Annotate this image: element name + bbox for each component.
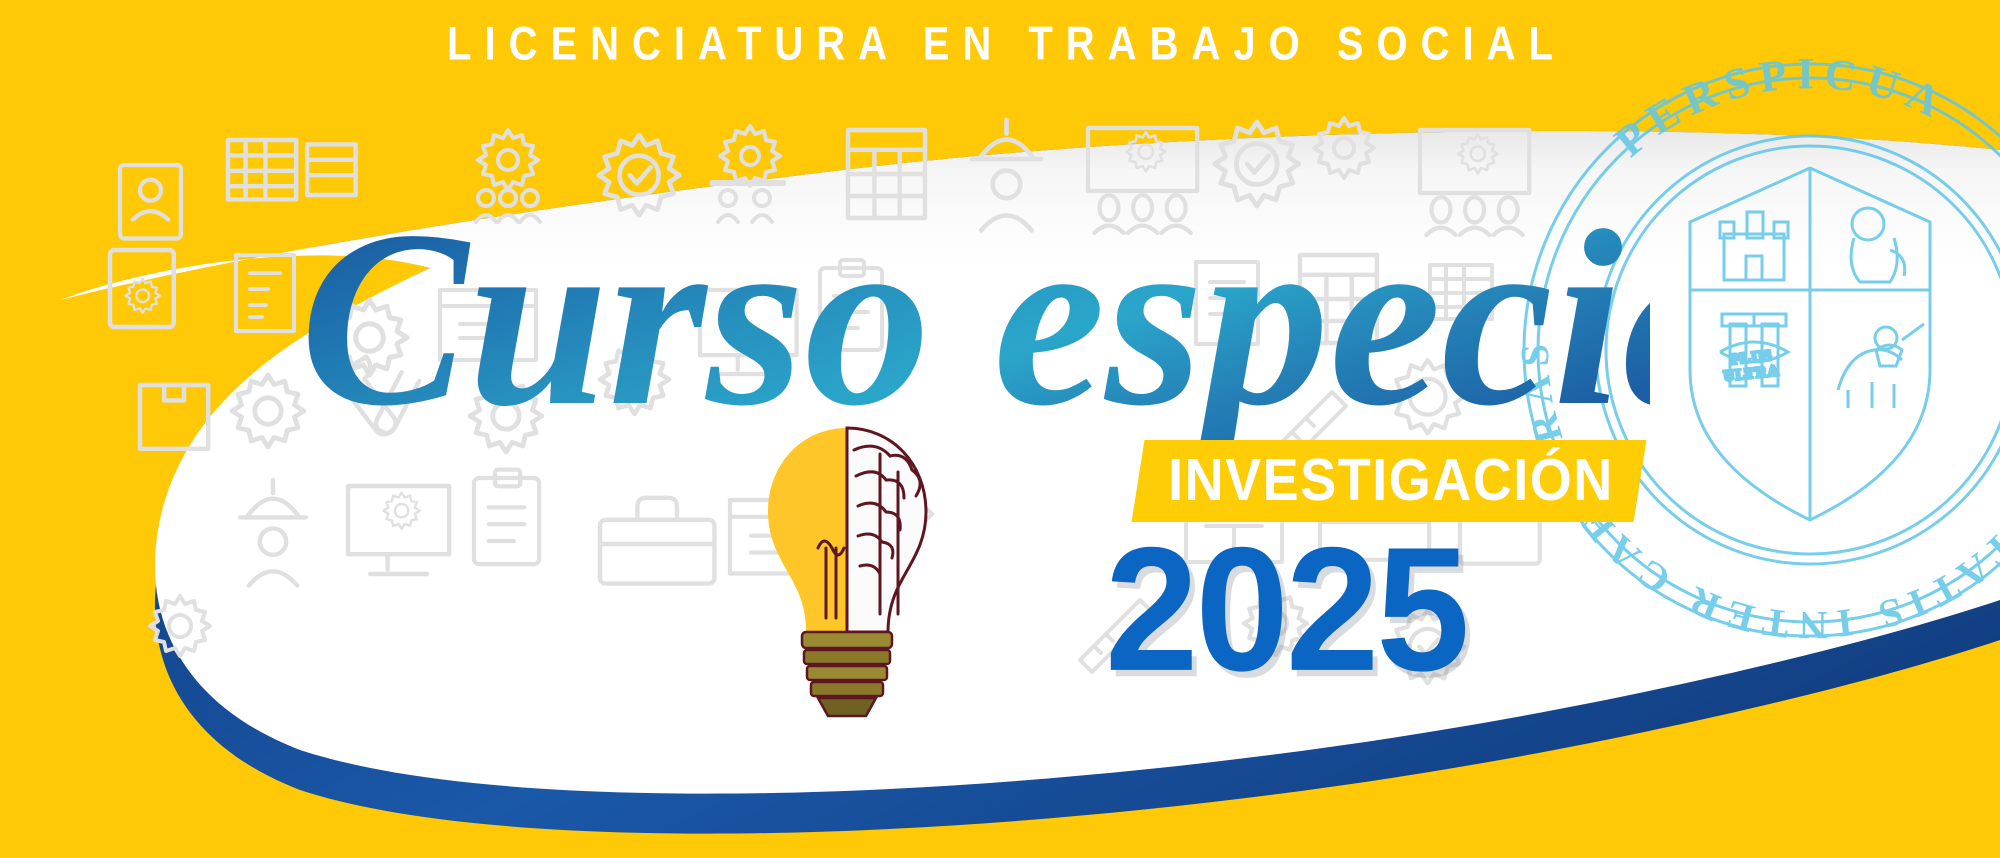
- gear-pair-icon: [232, 375, 304, 447]
- box-package-icon: [140, 385, 208, 449]
- ruler-pencil-icon: [1080, 600, 1152, 672]
- toolbox-icon: [1320, 478, 1429, 560]
- gear-check-icon: [1391, 360, 1465, 434]
- document-f-icon: [236, 255, 294, 331]
- toolbox-icon: [600, 498, 714, 584]
- university-seal-watermark: PERSPICUA VERITATIS INTER CAETERAS ORBIS: [1500, 40, 2000, 660]
- gear-monitor-people-icon: [712, 126, 784, 222]
- gear-pair-icon: [1244, 592, 1307, 655]
- gear-people-icon: [476, 130, 540, 222]
- blueprint-icon: [440, 290, 536, 360]
- document-gear-icon: [1196, 262, 1258, 344]
- promotional-banner: PERSPICUA VERITATIS INTER CAETERAS ORBIS: [0, 0, 2000, 858]
- blueprint-gear-icon: [730, 500, 831, 574]
- document-person-icon: [120, 165, 181, 239]
- blueprint-icon: [1186, 492, 1282, 562]
- ruler-pencil-icon: [848, 500, 932, 584]
- clipboard-gear-icon: [474, 470, 539, 564]
- worker-helmet-icon: [972, 120, 1041, 230]
- clipboard-icon: [820, 260, 882, 350]
- gear-check-icon: [1391, 610, 1465, 684]
- gear-check-icon: [599, 135, 680, 216]
- table-chart-icon: [1300, 255, 1377, 343]
- monitor-gear-icon: [700, 290, 797, 374]
- gear-pair-icon: [150, 596, 210, 656]
- table-chart-icon: [848, 130, 925, 218]
- gear-check-icon: [1215, 122, 1299, 206]
- gear-group-icon: [1314, 118, 1374, 178]
- spreadsheet-icon: [228, 140, 356, 199]
- gear-pair-icon: [470, 380, 542, 452]
- monitor-gear-icon: [348, 486, 449, 574]
- gear-presentation-icon: [1088, 128, 1197, 233]
- ruler-pencil-icon: [1262, 392, 1346, 476]
- folder-gear-icon: [110, 250, 174, 327]
- worker-helmet-icon: [240, 480, 306, 586]
- spreadsheet-icon: [1430, 265, 1492, 319]
- gear-pair-icon: [600, 345, 669, 414]
